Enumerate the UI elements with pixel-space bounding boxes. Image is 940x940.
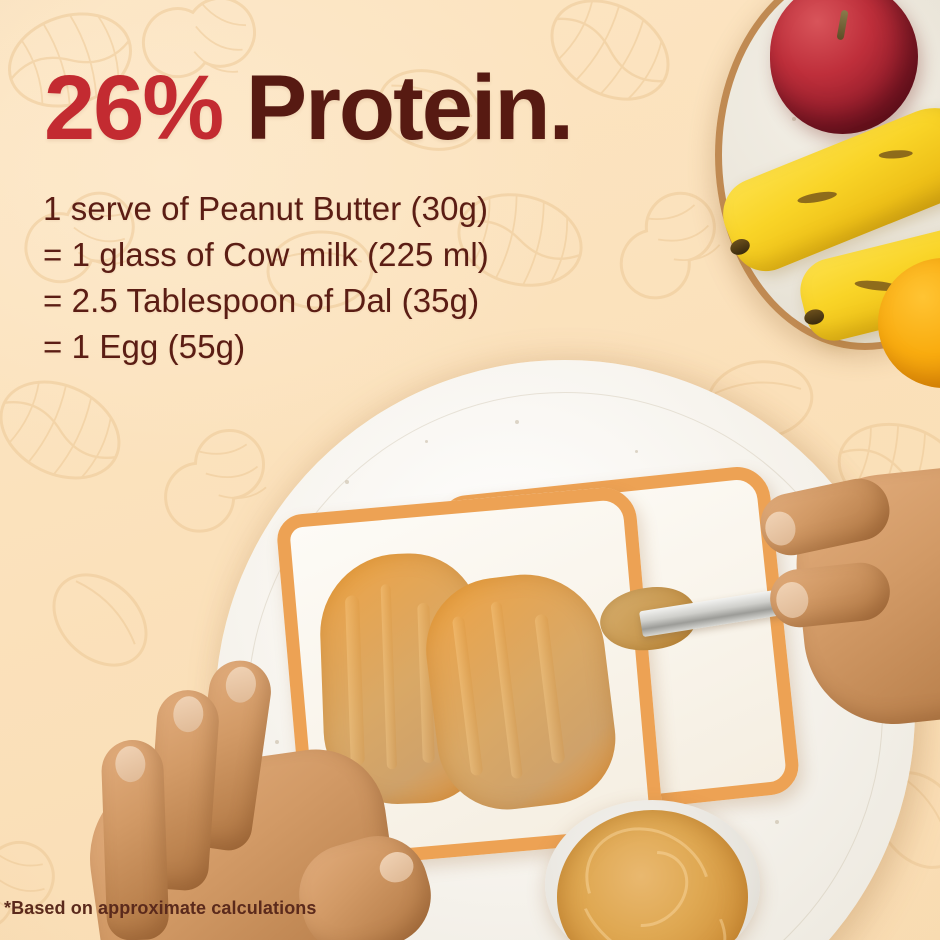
page-title: 26% Protein. <box>44 62 572 154</box>
equivalence-list: 1 serve of Peanut Butter (30g) = 1 glass… <box>43 186 489 370</box>
list-item: = 1 glass of Cow milk (225 ml) <box>43 232 489 278</box>
peanut-butter-in-bowl <box>557 810 748 940</box>
disclaimer-footnote: *Based on approximate calculations <box>4 898 317 919</box>
peanut-butter-protein-poster: 26% Protein. 1 serve of Peanut Butter (3… <box>0 0 940 940</box>
list-item: = 1 Egg (55g) <box>43 324 489 370</box>
list-item: = 2.5 Tablespoon of Dal (35g) <box>43 278 489 324</box>
headline-word: Protein. <box>246 57 572 159</box>
list-item: 1 serve of Peanut Butter (30g) <box>43 186 489 232</box>
headline-percent: 26% <box>44 57 222 159</box>
